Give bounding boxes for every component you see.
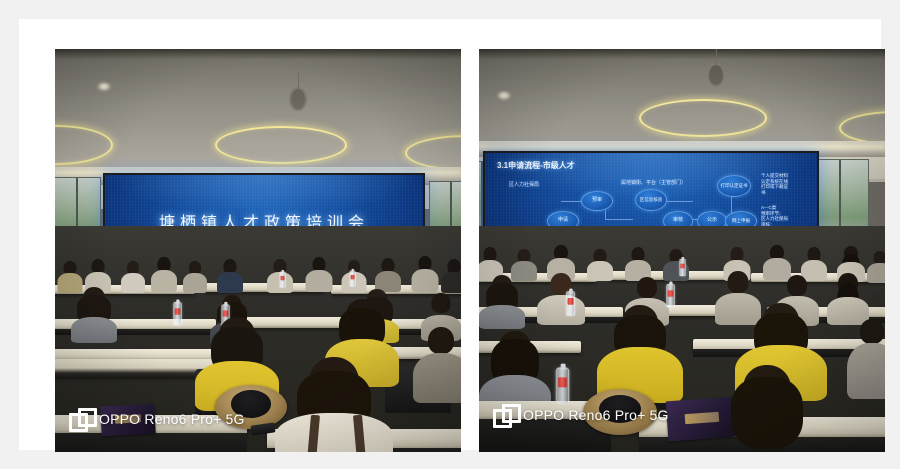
water-bottle xyxy=(566,291,575,316)
attendee xyxy=(411,256,438,291)
slide-title: 3.1申请流程-市级人才 xyxy=(497,160,575,171)
attendee xyxy=(479,275,525,323)
attendee xyxy=(587,249,613,279)
ceiling-ring-light xyxy=(215,126,347,164)
attendee xyxy=(827,273,869,323)
attendee-torso xyxy=(413,353,461,403)
attendee xyxy=(305,257,332,291)
attendee-head xyxy=(637,277,657,298)
attendee-torso xyxy=(847,343,885,399)
attendee-head xyxy=(860,319,884,344)
attendee-torso xyxy=(479,305,525,329)
attendee-torso xyxy=(183,273,207,293)
attendee-torso xyxy=(587,261,613,281)
attendee-torso xyxy=(71,317,117,343)
hat-crown xyxy=(231,390,271,417)
ceiling-ring-light xyxy=(639,99,767,137)
flow-node-verify: 区信息核验 xyxy=(635,189,667,211)
water-bottle xyxy=(556,367,570,403)
hanging-cable-coil xyxy=(707,63,725,87)
water-bottle xyxy=(679,259,686,276)
flow-edge xyxy=(605,219,633,220)
hanging-cable-coil xyxy=(289,87,307,111)
desk-edge-foreground xyxy=(55,433,247,452)
attendee-head xyxy=(432,293,451,313)
attendee xyxy=(867,251,885,281)
slide-label-left-dept: 区人力社保局 xyxy=(509,181,539,188)
attendee xyxy=(71,287,117,337)
attendee-torso xyxy=(305,270,332,292)
water-bottle xyxy=(173,302,182,325)
attendee xyxy=(763,245,791,279)
attendee xyxy=(151,257,177,291)
attendee-torso xyxy=(151,270,177,292)
attendee-torso xyxy=(867,263,885,283)
attendee-torso xyxy=(275,413,393,452)
attendee-foreground xyxy=(711,365,823,452)
ceiling-spotlight xyxy=(97,82,111,91)
desk-row-front-edge xyxy=(55,359,217,377)
straw-hat xyxy=(583,389,657,435)
slide-label-mid-dept: 属地镇街、平台（主管部门） xyxy=(621,179,686,186)
attendee xyxy=(217,259,243,291)
attendee-torso xyxy=(217,272,243,293)
attendee-head xyxy=(428,327,454,354)
attendee xyxy=(441,259,461,291)
flow-node-presubmit: 预审 xyxy=(581,191,613,211)
booklet xyxy=(100,404,155,437)
photo-card: 塘栖镇人才政策培训会 xyxy=(19,19,881,450)
attendee-torso xyxy=(537,295,585,325)
photo-left[interactable]: 塘栖镇人才政策培训会 xyxy=(55,49,461,452)
ceiling-spotlight xyxy=(497,91,511,100)
photo-right[interactable]: 3.1申请流程-市级人才 区人力社保局 属地镇街、平台（主管部门） 申请 预审 … xyxy=(479,49,885,452)
attendee xyxy=(413,327,461,401)
water-bottle xyxy=(666,284,675,307)
attendee-hair xyxy=(731,377,803,449)
flow-node-issue: 打印认定证书 xyxy=(717,175,751,197)
screenshot-stage: 塘栖镇人才政策培训会 xyxy=(0,0,900,469)
water-bottle xyxy=(279,272,285,288)
attendee-torso xyxy=(441,272,461,293)
attendee-torso xyxy=(411,269,438,292)
water-bottle xyxy=(349,271,355,287)
attendee-head xyxy=(787,275,807,296)
attendee xyxy=(537,273,585,323)
attendee-head xyxy=(728,271,749,293)
attendee-foreground xyxy=(275,357,393,452)
attendee-foreground xyxy=(597,305,683,397)
attendee xyxy=(375,258,401,291)
attendee xyxy=(847,319,885,399)
attendee xyxy=(183,261,207,291)
attendee xyxy=(121,261,145,291)
soffit-light-strip xyxy=(479,145,885,150)
slide-note-right-top: 个人提交材料 认定系统在线 打印或下载证 书 xyxy=(761,173,788,196)
attendee xyxy=(625,247,651,279)
hat-crown xyxy=(599,395,640,424)
attendee-torso xyxy=(121,273,145,293)
